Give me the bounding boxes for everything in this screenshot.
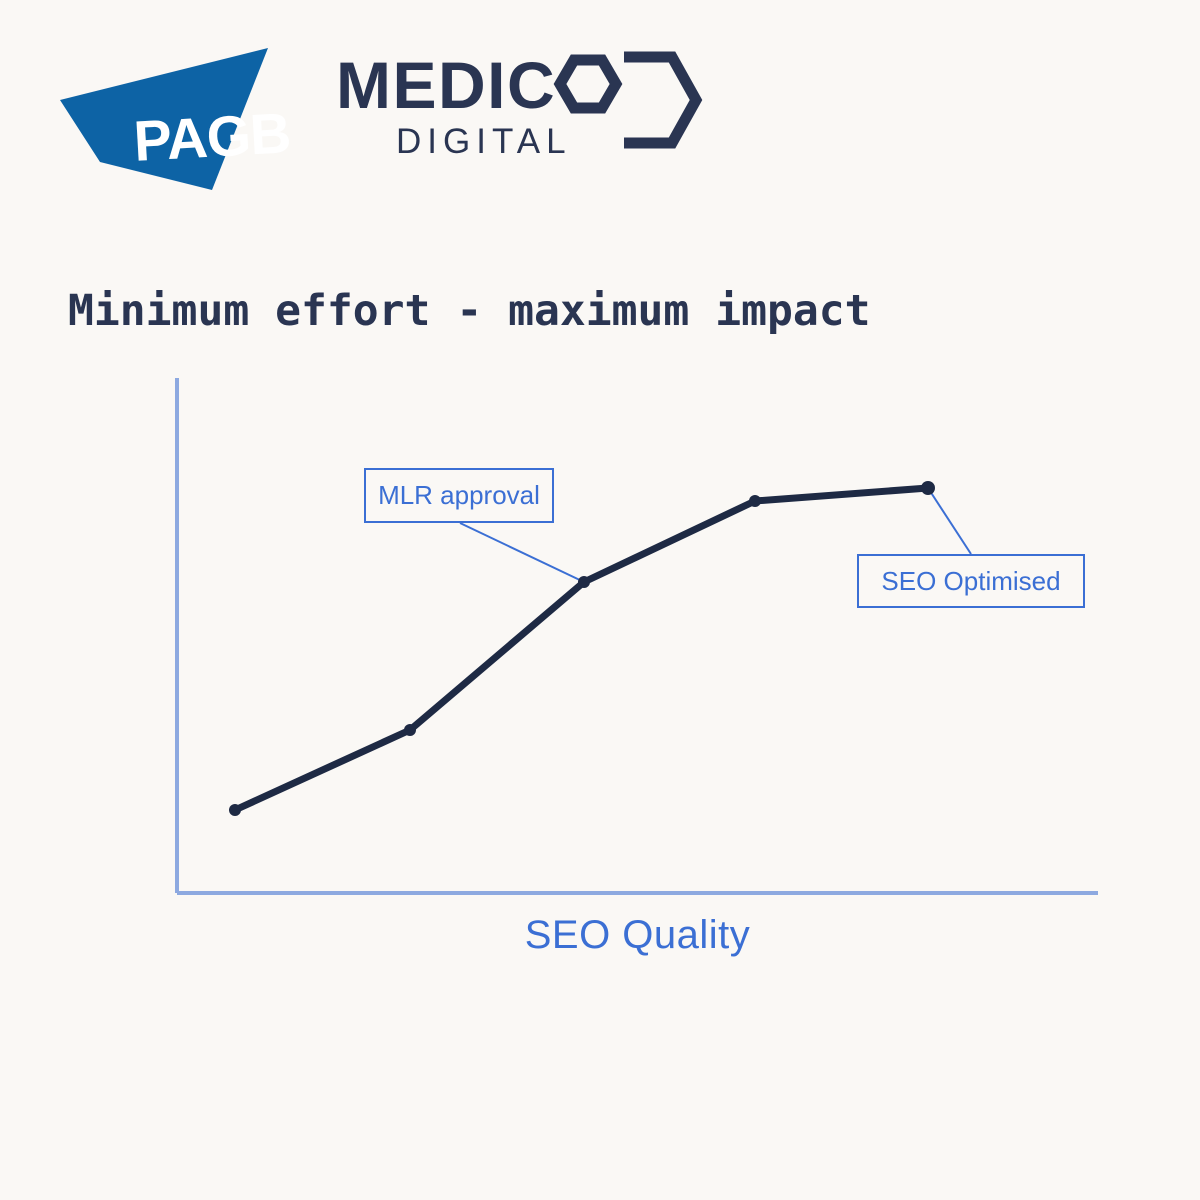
annotation-mlr-approval: MLR approval xyxy=(364,468,554,523)
annotation-seo-optimised: SEO Optimised xyxy=(857,554,1085,608)
leader-line-seo xyxy=(928,488,971,554)
data-point xyxy=(578,576,590,588)
leader-line-mlr xyxy=(460,523,584,582)
data-point xyxy=(229,804,241,816)
data-line xyxy=(235,488,928,810)
data-point xyxy=(921,481,935,495)
data-point xyxy=(749,495,761,507)
poster-page: PAGB MEDIC DIGITAL Minimum effort - maxi… xyxy=(0,0,1200,1200)
chart: Time and effort SEO Quality MLR approval… xyxy=(0,0,1200,1200)
x-axis-label: SEO Quality xyxy=(177,913,1098,958)
data-point xyxy=(404,724,416,736)
